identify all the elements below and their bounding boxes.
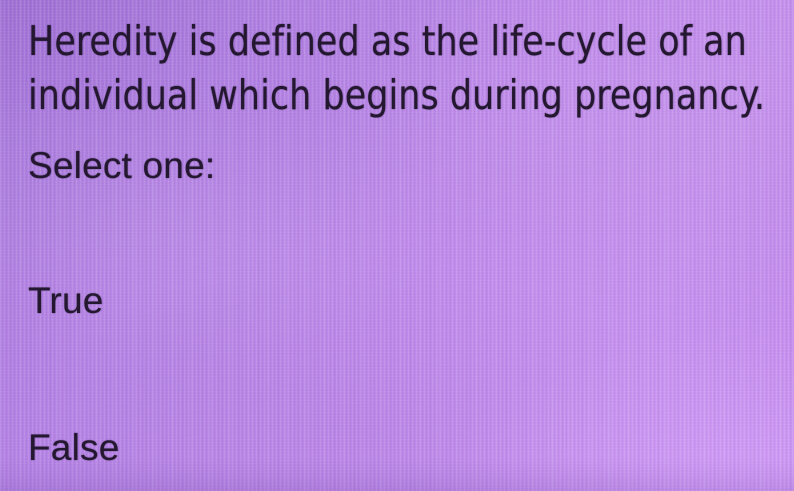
answer-option-false[interactable]: False xyxy=(0,427,794,479)
quiz-content: Heredity is defined as the life-cycle of… xyxy=(0,0,794,491)
question-text-line-2: individual which begins during pregnancy… xyxy=(28,71,765,119)
answer-option-true[interactable]: True xyxy=(0,280,794,332)
select-one-prompt: Select one: xyxy=(28,145,215,187)
question-text-line-1: Heredity is defined as the life-cycle of… xyxy=(28,17,747,65)
answer-option-true-label[interactable]: True xyxy=(28,280,104,322)
quiz-screen: Heredity is defined as the life-cycle of… xyxy=(0,0,794,491)
answer-option-false-label[interactable]: False xyxy=(28,427,119,469)
